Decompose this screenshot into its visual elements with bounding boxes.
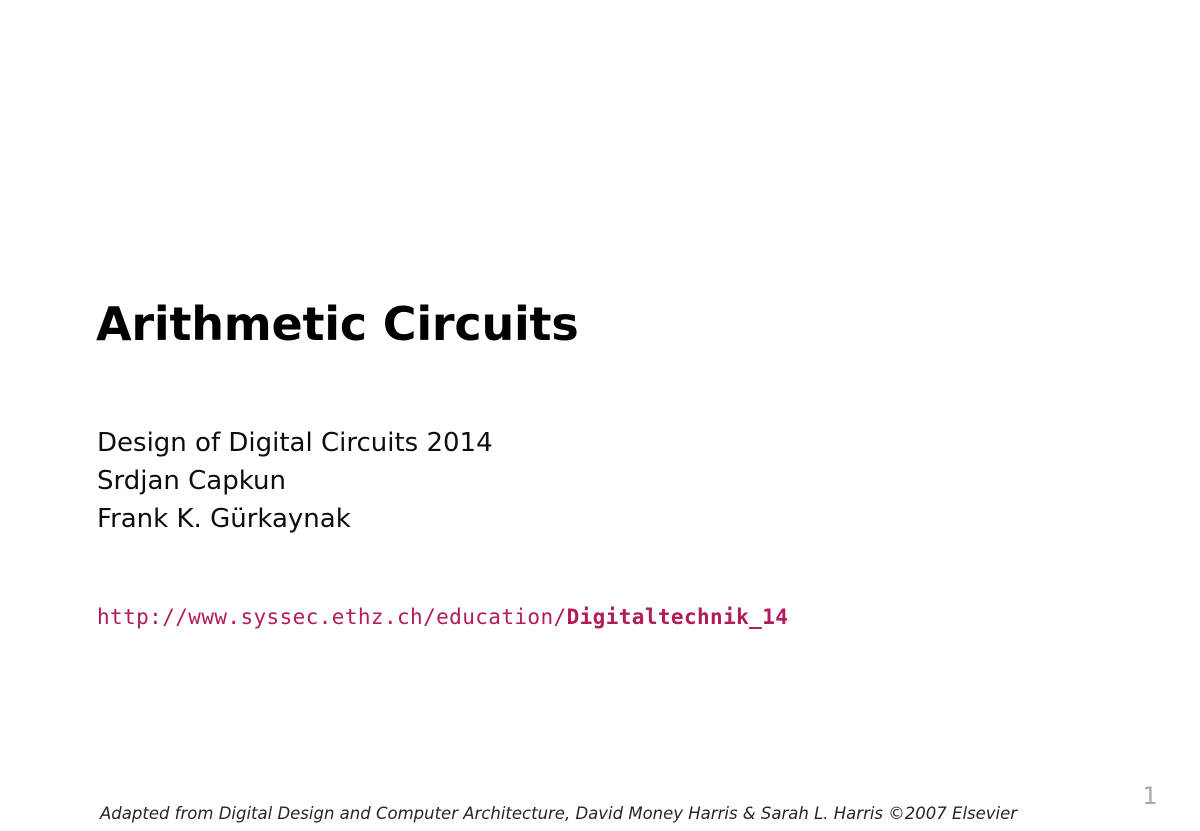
course-url-tail: Digitaltechnik_14 (567, 605, 789, 629)
course-url-link[interactable]: http://www.syssec.ethz.ch/education/Digi… (97, 602, 788, 632)
page-number: 1 (1128, 782, 1172, 810)
subtitle-line-course: Design of Digital Circuits 2014 (97, 424, 997, 462)
subtitle-line-author-1: Srdjan Capkun (97, 462, 997, 500)
page-title: Arithmetic Circuits (96, 299, 1116, 351)
slide-canvas: Arithmetic Circuits Design of Digital Ci… (0, 0, 1200, 831)
course-url-head: http://www.syssec.ethz.ch/education/ (97, 605, 567, 629)
subtitle-block: Design of Digital Circuits 2014 Srdjan C… (97, 424, 997, 538)
subtitle-line-author-2: Frank K. Gürkaynak (97, 500, 997, 538)
footer-credit: Adapted from Digital Design and Computer… (100, 803, 1017, 825)
